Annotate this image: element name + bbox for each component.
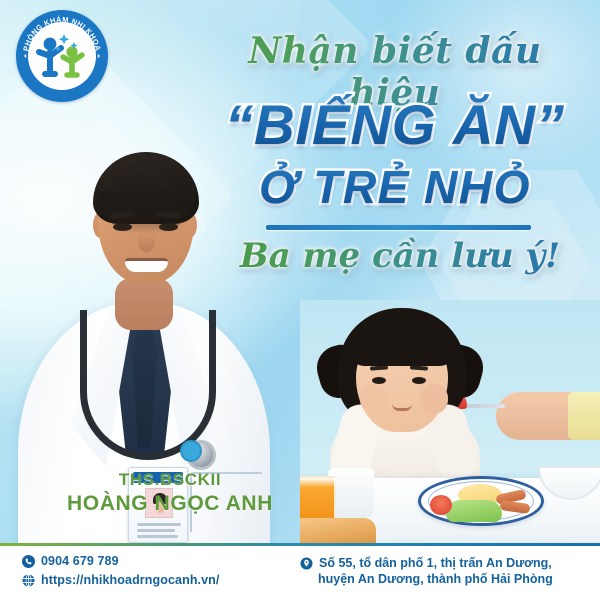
footer-website-text: https://nhikhoadrngocanh.vn/ — [41, 572, 220, 588]
doctor-eye-right — [159, 223, 178, 231]
badge-text-line-3 — [137, 535, 178, 538]
footer-address-line2: huyện An Dương, thành phố Hải Phòng — [318, 571, 553, 587]
poster-root: PHÒNG KHÁM NHI KHOA THS.BSCKII HOÀNG NGỌ… — [0, 0, 600, 600]
badge-reel-clip — [180, 440, 202, 462]
headline-divider — [266, 225, 531, 230]
doctor-title: THS.BSCKII — [40, 470, 300, 491]
globe-icon — [22, 574, 35, 587]
logo-star-left — [24, 54, 26, 58]
child-refusing-food-photo — [300, 300, 600, 545]
map-pin-icon — [300, 557, 313, 570]
badge-text-line-2 — [137, 529, 175, 532]
footer-contact-column: 0904 679 789 https://nhikhoadrngocanh.vn… — [22, 553, 302, 591]
adult-sleeve — [568, 392, 600, 440]
doctor-full-name: HOÀNG NGỌC ANH — [40, 491, 300, 517]
child-eye-right — [412, 377, 426, 384]
lettuce — [446, 500, 502, 522]
doctor-mouth — [125, 258, 168, 272]
footer-phone-row[interactable]: 0904 679 789 — [22, 553, 302, 569]
footer-address-line1: Số 55, tổ dân phố 1, thị trấn An Dương, — [318, 555, 553, 571]
footer-address-text: Số 55, tổ dân phố 1, thị trấn An Dương, … — [318, 555, 553, 587]
doctor-eye-left — [113, 223, 132, 231]
doctor-name-block: THS.BSCKII HOÀNG NGỌC ANH — [40, 470, 300, 516]
footer-bar: 0904 679 789 https://nhikhoadrngocanh.vn… — [0, 546, 600, 600]
footer-phone-text: 0904 679 789 — [41, 553, 119, 569]
stethoscope-tube — [80, 310, 216, 460]
tomato-slice — [430, 495, 452, 515]
toast-bread — [300, 518, 376, 545]
footer-website-row[interactable]: https://nhikhoadrngocanh.vn/ — [22, 572, 302, 588]
badge-text-line-1 — [137, 523, 181, 526]
doctor-nose — [138, 232, 155, 252]
footer-address-column: Số 55, tổ dân phố 1, thị trấn An Dương, … — [300, 555, 596, 587]
child-hand-left — [360, 384, 388, 414]
doctor-hair — [93, 152, 199, 224]
clinic-logo: PHÒNG KHÁM NHI KHOA THS.BSCKII HOÀNG NGỌ… — [16, 10, 108, 102]
logo-star-right — [98, 54, 100, 58]
child-hand-right — [420, 384, 448, 414]
phone-circle-icon — [22, 555, 35, 568]
child-eye-left — [372, 377, 386, 384]
logo-children-figures — [28, 22, 96, 90]
